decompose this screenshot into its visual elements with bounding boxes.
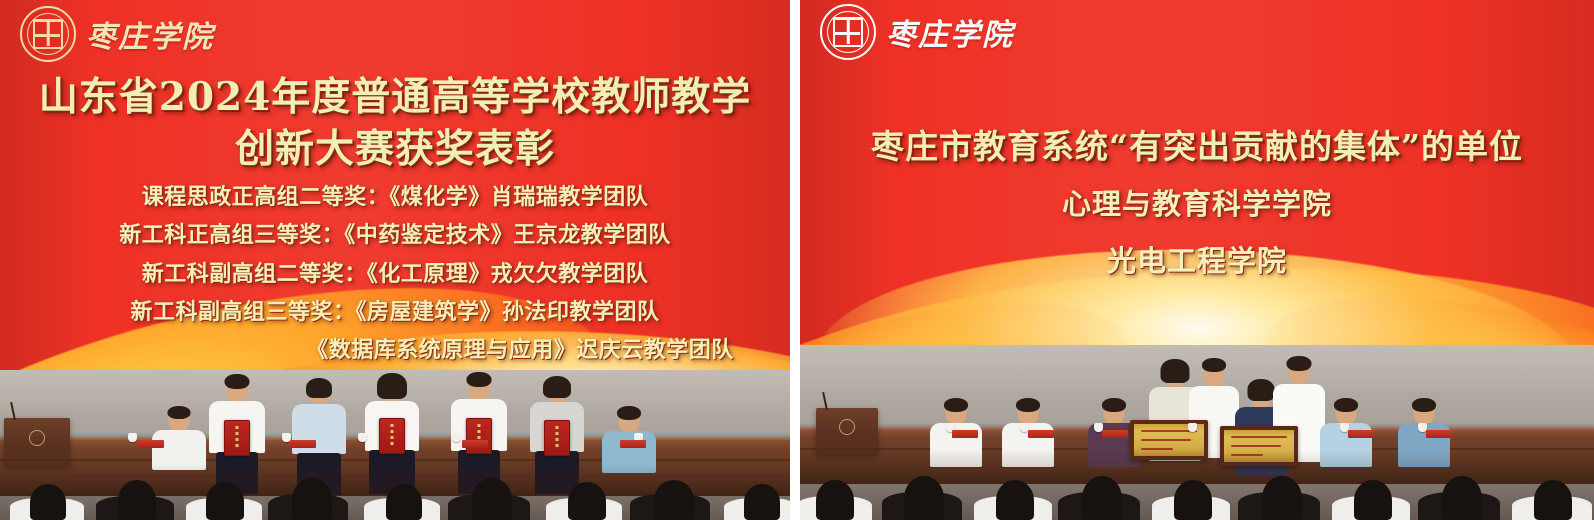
university-wordmark: 枣庄学院 [86,12,214,56]
audience-head [1354,480,1392,520]
audience-head [206,482,244,520]
subtitle-line-1: 心理与教育科学学院 [800,181,1594,228]
name-placard [290,440,316,448]
left-audience [0,464,790,520]
award-list: 课程思政正高组二等奖：《煤化学》肖瑞瑞教学团队 新工科正高组三等奖：《中药鉴定技… [0,178,790,369]
audience-head [996,480,1034,520]
award-certificate [224,420,250,456]
audience-head [904,476,944,520]
audience-head [386,484,422,520]
audience-head [568,482,606,520]
audience-head [292,478,332,520]
headline-line-2: 创新大赛获奖表彰 [0,126,790,172]
name-placard [620,440,646,448]
name-placard [138,440,164,448]
award-certificate [466,418,492,454]
university-seal-icon [20,6,76,62]
audience-head [472,478,512,520]
tea-cup [452,433,461,442]
audience-head [1442,476,1482,520]
award-item-3: 新工科副高组二等奖：《化工原理》戎欠欠教学团队 [0,255,790,293]
podium [4,418,70,466]
headline-line-1: 山东省2024年度普通高等学校教师教学 [0,74,790,120]
podium-emblem-icon [839,419,855,435]
seated-person-left [150,406,208,468]
university-wordmark: 枣庄学院 [886,10,1014,54]
podium-emblem-icon [29,430,45,446]
photo-gallery: 枣庄学院 山东省2024年度普通高等学校教师教学 创新大赛获奖表彰 课程思政正高… [0,0,1594,520]
tea-cup [128,433,137,442]
university-brand: 枣庄学院 [20,6,214,62]
university-seal-icon [820,4,876,60]
audience-head [1082,476,1122,520]
award-certificate [379,418,405,454]
left-ceremony-photo[interactable]: 枣庄学院 山东省2024年度普通高等学校教师教学 创新大赛获奖表彰 课程思政正高… [0,0,790,520]
name-placard [1426,430,1452,438]
audience-head [654,480,694,520]
left-headline-block: 山东省2024年度普通高等学校教师教学 创新大赛获奖表彰 课程思政正高组二等奖：… [0,74,790,369]
right-headline-block: 枣庄市教育系统“有突出贡献的集体”的单位 心理与教育科学学院 光电工程学院 [800,128,1594,285]
right-audience [800,450,1594,520]
audience-head [744,484,780,520]
right-ceremony-photo[interactable]: 枣庄学院 枣庄市教育系统“有突出贡献的集体”的单位 心理与教育科学学院 光电工程… [800,0,1594,520]
right-stage [800,345,1594,520]
audience-head [1174,480,1212,520]
headline-line-1: 枣庄市教育系统“有突出贡献的集体”的单位 [800,128,1594,167]
name-placard [1348,430,1374,438]
award-certificate [544,420,570,456]
award-item-1: 课程思政正高组二等奖：《煤化学》肖瑞瑞教学团队 [0,178,790,216]
name-placard [1102,430,1128,438]
audience-head [816,480,854,520]
photo-divider [790,0,800,520]
university-brand: 枣庄学院 [820,4,1014,60]
audience-head [1534,480,1572,520]
name-placard [462,440,488,448]
award-item-4: 新工科副高组三等奖：《房屋建筑学》孙法印教学团队 [0,293,790,331]
award-item-2: 新工科正高组三等奖：《中药鉴定技术》王京龙教学团队 [0,216,790,254]
tea-cup [1188,423,1197,432]
name-placard [952,430,978,438]
podium [816,408,878,454]
audience-head [118,480,156,520]
audience-head [1262,476,1302,520]
subtitle-line-2: 光电工程学院 [800,238,1594,285]
left-stage [0,370,790,520]
audience-head [30,484,66,520]
seated-person-right [600,406,658,470]
name-placard [1028,430,1054,438]
tea-cup [358,433,367,442]
award-item-5: 《数据库系统原理与应用》迟庆云教学团队 [0,331,790,369]
